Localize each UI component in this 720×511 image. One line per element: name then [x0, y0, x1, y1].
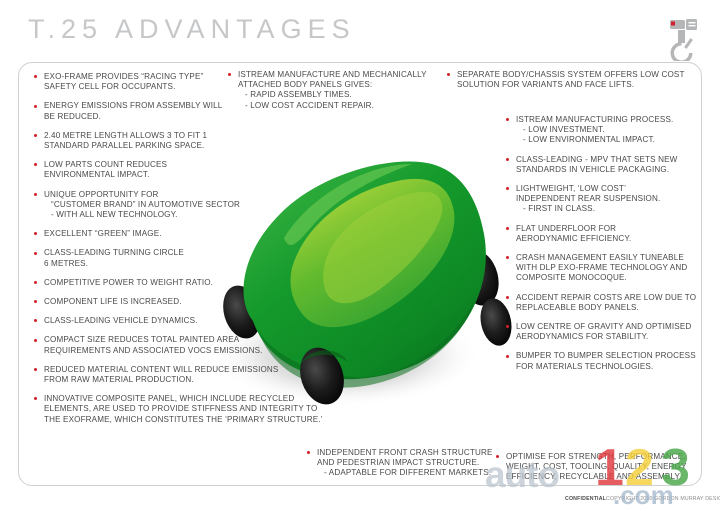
advantage-bullet-line: - ADAPTABLE FOR DIFFERENT MARKETS.	[317, 468, 507, 478]
advantage-bullet-line: SOLUTION FOR VARIANTS AND FACE LIFTS.	[457, 80, 697, 90]
advantage-bullet-line: BE REDUCED.	[44, 112, 249, 122]
advantage-bullet-line: COMPOSITE MONOCOQUE.	[516, 273, 706, 283]
confidential-footer: CONFIDENTIALCOPYRIGHT 2010 GORDON MURRAY…	[565, 496, 720, 502]
bullet-dot-icon	[447, 73, 450, 76]
advantage-bullet-line: BUMPER TO BUMPER SELECTION PROCESS	[516, 351, 706, 361]
advantage-bullet: ACCIDENT REPAIR COSTS ARE LOW DUE TOREPL…	[506, 293, 706, 313]
advantage-bullet: FLAT UNDERFLOOR FORAERODYNAMIC EFFICIENC…	[506, 224, 706, 244]
bullet-dot-icon	[506, 256, 509, 259]
bullet-dot-icon	[506, 325, 509, 328]
page-title: T.25 ADVANTAGES	[28, 14, 356, 45]
advantage-bullet-line: - FIRST IN CLASS.	[516, 204, 706, 214]
advantage-bullet: UNIQUE OPPORTUNITY FOR“CUSTOMER BRAND” I…	[34, 190, 249, 221]
advantage-bullet-line: iSTREAM MANUFACTURE AND MECHANICALLY	[238, 70, 433, 80]
advantage-bullet-line: COMPACT SIZE REDUCES TOTAL PAINTED AREA	[44, 335, 249, 345]
advantage-bullet-line: ENVIRONMENTAL IMPACT.	[44, 170, 249, 180]
advantage-bullet-line: FROM RAW MATERIAL PRODUCTION.	[44, 375, 249, 385]
slide-canvas: T.25 ADVANTAGES	[0, 0, 720, 509]
advantages-column-right: iSTREAM MANUFACTURING PROCESS.- LOW INVE…	[506, 115, 706, 381]
advantage-bullet-line: COMPETITIVE POWER TO WEIGHT RATIO.	[44, 278, 249, 288]
advantage-bullet: COMPETITIVE POWER TO WEIGHT RATIO.	[34, 278, 249, 288]
footer-confidential-label: CONFIDENTIAL	[565, 496, 606, 502]
advantage-bullet: ENERGY EMISSIONS FROM ASSEMBLY WILLBE RE…	[34, 101, 249, 121]
advantage-bullet-line: CLASS-LEADING - MPV THAT SETS NEW	[516, 155, 706, 165]
advantage-bullet: EXO-FRAME PROVIDES “RACING TYPE”SAFETY C…	[34, 72, 249, 92]
advantage-bullet-line: AND PEDESTRIAN IMPACT STRUCTURE.	[317, 458, 507, 468]
advantage-bullet: LOW PARTS COUNT REDUCESENVIRONMENTAL IMP…	[34, 160, 249, 180]
advantage-bullet: COMPONENT LIFE IS INCREASED.	[34, 297, 249, 307]
bullet-dot-icon	[506, 187, 509, 190]
advantage-bullet-line: LOW PARTS COUNT REDUCES	[44, 160, 249, 170]
advantages-column-mid-top: iSTREAM MANUFACTURE AND MECHANICALLYATTA…	[228, 70, 433, 120]
advantage-bullet-line: WEIGHT, COST, TOOLING, QUALITY, ENERGY	[506, 462, 711, 472]
bullet-dot-icon	[228, 73, 231, 76]
advantage-bullet: OPTIMISE FOR STRENGTH, PERFORMANCE,WEIGH…	[496, 452, 711, 483]
advantage-bullet: CRASH MANAGEMENT EASILY TUNEABLEWITH DLP…	[506, 253, 706, 284]
advantage-bullet-line: CRASH MANAGEMENT EASILY TUNEABLE	[516, 253, 706, 263]
bullet-dot-icon	[34, 134, 37, 137]
advantage-bullet-line: LOW CENTRE OF GRAVITY AND OPTIMISED	[516, 322, 706, 332]
advantage-bullet-line: THE EXOFRAME, WHICH CONSTITUTES THE ‘PRI…	[44, 415, 249, 425]
advantage-bullet: LOW CENTRE OF GRAVITY AND OPTIMISEDAEROD…	[506, 322, 706, 342]
advantage-bullet-line: CLASS-LEADING VEHICLE DYNAMICS.	[44, 316, 249, 326]
bullet-dot-icon	[506, 118, 509, 121]
advantage-bullet-line: LIGHTWEIGHT, ‘LOW COST’	[516, 184, 706, 194]
advantage-bullet-line: “CUSTOMER BRAND” IN AUTOMOTIVE SECTOR	[44, 200, 249, 210]
advantage-bullet-line: AERODYNAMIC EFFICIENCY.	[516, 234, 706, 244]
advantage-bullet-line: 2.40 METRE LENGTH ALLOWS 3 TO FIT 1	[44, 131, 249, 141]
advantage-bullet-line: FLAT UNDERFLOOR FOR	[516, 224, 706, 234]
bullet-dot-icon	[34, 319, 37, 322]
advantage-bullet: EXCELLENT “GREEN” IMAGE.	[34, 229, 249, 239]
advantage-bullet-line: WITH DLP EXO-FRAME TECHNOLOGY AND	[516, 263, 706, 273]
bullet-dot-icon	[506, 227, 509, 230]
bullet-dot-icon	[34, 339, 37, 342]
advantage-bullet-line: ELEMENTS, ARE USED TO PROVIDE STIFFNESS …	[44, 404, 249, 414]
bullet-dot-icon	[34, 193, 37, 196]
advantages-column-right-wide: OPTIMISE FOR STRENGTH, PERFORMANCE,WEIGH…	[496, 452, 711, 492]
bullet-dot-icon	[34, 252, 37, 255]
bullet-dot-icon	[34, 105, 37, 108]
bullet-dot-icon	[506, 355, 509, 358]
advantage-bullet-line: - RAPID ASSEMBLY TIMES.	[238, 90, 433, 100]
advantage-bullet: COMPACT SIZE REDUCES TOTAL PAINTED AREAR…	[34, 335, 249, 355]
bullet-dot-icon	[34, 281, 37, 284]
advantage-bullet-line: OPTIMISE FOR STRENGTH, PERFORMANCE,	[506, 452, 711, 462]
advantage-bullet-line: COMPONENT LIFE IS INCREASED.	[44, 297, 249, 307]
advantages-column-left: EXO-FRAME PROVIDES “RACING TYPE”SAFETY C…	[34, 72, 249, 434]
advantage-bullet-line: STANDARDS IN VEHICLE PACKAGING.	[516, 165, 706, 175]
footer-copyright-label: COPYRIGHT 2010 GORDON MURRAY DESIGN	[606, 496, 720, 502]
advantage-bullet-line: CLASS-LEADING TURNING CIRCLE	[44, 248, 249, 258]
advantage-bullet-line: REDUCED MATERIAL CONTENT WILL REDUCE EMI…	[44, 365, 249, 375]
advantage-bullet-line: FOR MATERIALS TECHNOLOGIES.	[516, 362, 706, 372]
advantage-bullet: 2.40 METRE LENGTH ALLOWS 3 TO FIT 1STAND…	[34, 131, 249, 151]
bullet-dot-icon	[34, 163, 37, 166]
advantage-bullet-line: SAFETY CELL FOR OCCUPANTS.	[44, 82, 249, 92]
advantage-bullet-line: - LOW COST ACCIDENT REPAIR.	[238, 101, 433, 111]
advantage-bullet: CLASS-LEADING TURNING CIRCLE6 METRES.	[34, 248, 249, 268]
bullet-dot-icon	[34, 300, 37, 303]
bullet-dot-icon	[34, 368, 37, 371]
gordon-murray-design-logo-icon	[660, 11, 706, 61]
advantage-bullet-line: REPLACEABLE BODY PANELS.	[516, 303, 706, 313]
advantage-bullet-line: STANDARD PARALLEL PARKING SPACE.	[44, 141, 249, 151]
advantage-bullet-line: ATTACHED BODY PANELS GIVES:	[238, 80, 433, 90]
advantage-bullet-line: ENERGY EMISSIONS FROM ASSEMBLY WILL	[44, 101, 249, 111]
bullet-dot-icon	[506, 296, 509, 299]
advantage-bullet: SEPARATE BODY/CHASSIS SYSTEM OFFERS LOW …	[447, 70, 697, 90]
bullet-dot-icon	[34, 75, 37, 78]
advantage-bullet: INDEPENDENT FRONT CRASH STRUCTUREAND PED…	[307, 448, 507, 479]
advantage-bullet-line: - LOW ENVIRONMENTAL IMPACT.	[516, 135, 706, 145]
advantage-bullet: REDUCED MATERIAL CONTENT WILL REDUCE EMI…	[34, 365, 249, 385]
advantage-bullet: iSTREAM MANUFACTURE AND MECHANICALLYATTA…	[228, 70, 433, 111]
advantage-bullet-line: 6 METRES.	[44, 259, 249, 269]
advantage-bullet-line: UNIQUE OPPORTUNITY FOR	[44, 190, 249, 200]
advantage-bullet-line: REQUIREMENTS AND ASSOCIATED VOCS EMISSIO…	[44, 346, 249, 356]
advantage-bullet: INNOVATIVE COMPOSITE PANEL, WHICH INCLUD…	[34, 394, 249, 425]
advantage-bullet-line: ACCIDENT REPAIR COSTS ARE LOW DUE TO	[516, 293, 706, 303]
advantage-bullet-line: AERODYNAMICS FOR STABILITY.	[516, 332, 706, 342]
advantage-bullet-line: EXO-FRAME PROVIDES “RACING TYPE”	[44, 72, 249, 82]
advantages-column-right-top: SEPARATE BODY/CHASSIS SYSTEM OFFERS LOW …	[447, 70, 697, 99]
advantage-bullet: CLASS-LEADING - MPV THAT SETS NEWSTANDAR…	[506, 155, 706, 175]
bullet-dot-icon	[307, 451, 310, 454]
advantage-bullet-line: EXCELLENT “GREEN” IMAGE.	[44, 229, 249, 239]
bullet-dot-icon	[496, 455, 499, 458]
advantage-bullet: LIGHTWEIGHT, ‘LOW COST’INDEPENDENT REAR …	[506, 184, 706, 215]
advantage-bullet-line: iSTREAM MANUFACTURING PROCESS.	[516, 115, 706, 125]
bullet-dot-icon	[506, 158, 509, 161]
advantage-bullet-line: INDEPENDENT REAR SUSPENSION.	[516, 194, 706, 204]
advantage-bullet: iSTREAM MANUFACTURING PROCESS.- LOW INVE…	[506, 115, 706, 146]
advantage-bullet: BUMPER TO BUMPER SELECTION PROCESSFOR MA…	[506, 351, 706, 371]
advantage-bullet: CLASS-LEADING VEHICLE DYNAMICS.	[34, 316, 249, 326]
bullet-dot-icon	[34, 232, 37, 235]
advantage-bullet-line: - LOW INVESTMENT.	[516, 125, 706, 135]
advantages-column-mid-bottom: INDEPENDENT FRONT CRASH STRUCTUREAND PED…	[307, 448, 507, 488]
advantage-bullet-line: - WITH ALL NEW TECHNOLOGY.	[44, 210, 249, 220]
advantage-bullet-line: INNOVATIVE COMPOSITE PANEL, WHICH INCLUD…	[44, 394, 249, 404]
bullet-dot-icon	[34, 397, 37, 400]
advantage-bullet-line: EFFICIENCY, RECYCLABLE AND ASSEMBLY.	[506, 472, 711, 482]
advantage-bullet-line: INDEPENDENT FRONT CRASH STRUCTURE	[317, 448, 507, 458]
advantage-bullet-line: SEPARATE BODY/CHASSIS SYSTEM OFFERS LOW …	[457, 70, 697, 80]
